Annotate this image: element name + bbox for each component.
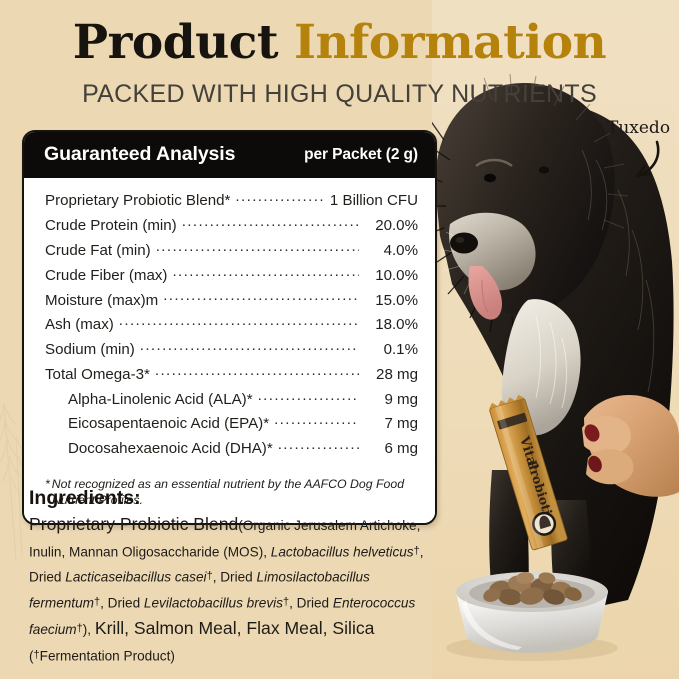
page-title: Product Information [0, 18, 679, 69]
guaranteed-analysis-rows: Proprietary Probiotic Blend* 1 Billion C… [24, 178, 435, 466]
ingredients-body: Proprietary Probiotic Blend(Organic Jeru… [29, 512, 435, 669]
ingredient-line-5-main: Krill, Salmon Meal, Flax Meal, Silica [95, 618, 375, 638]
nutrient-value: 10.0% [364, 268, 418, 283]
ingredient-line-4-b: , Dried [289, 596, 333, 611]
ingredients-heading: Ingredients: [29, 487, 141, 510]
nutrient-value: 1 Billion CFU [330, 193, 418, 208]
nutrient-value: 15.0% [364, 293, 418, 308]
nutrient-value: 9 mg [364, 392, 418, 407]
ingredient-line-1-rest: (Organic Jerusalem Artichoke, [238, 518, 420, 533]
leader-dots [156, 240, 359, 255]
leader-dots [119, 314, 359, 329]
leader-dots [140, 339, 359, 354]
table-row: Docosahexaenoic Acid (DHA)* 6 mg [45, 435, 418, 460]
nutrient-label: Moisture (max)m [45, 293, 158, 308]
nutrient-value: 4.0% [364, 243, 418, 258]
ingredient-line-4-a: , Dried [100, 596, 144, 611]
nutrient-value: 20.0% [364, 218, 418, 233]
leader-dots [155, 364, 359, 379]
nutrient-value: 0.1% [364, 342, 418, 357]
nutrient-label: Crude Fiber (max) [45, 268, 167, 283]
ingredient-line-2-a: Inulin, Mannan Oligosaccharide (MOS), [29, 544, 271, 559]
ingredient-line-2-end: , [420, 544, 424, 559]
ingredient-blend-name: Proprietary Probiotic Blend [29, 514, 238, 534]
guaranteed-analysis-panel: Guaranteed Analysis per Packet (2 g) Pro… [22, 130, 437, 525]
nutrient-label: Total Omega-3* [45, 367, 150, 382]
table-row: Crude Fiber (max) 10.0% [45, 261, 418, 286]
table-row: Total Omega-3* 28 mg [45, 360, 418, 385]
nutrient-label: Ash (max) [45, 317, 114, 332]
nutrient-label: Crude Fat (min) [45, 243, 151, 258]
table-row: Proprietary Probiotic Blend* 1 Billion C… [45, 187, 418, 212]
nutrient-value: 28 mg [364, 367, 418, 382]
table-row: Crude Fat (min) 4.0% [45, 237, 418, 262]
table-row: Ash (max) 18.0% [45, 311, 418, 336]
leader-dots [258, 389, 359, 404]
leader-dots [172, 265, 359, 280]
species-limosilactobacillus: Limosilactobacillus [257, 570, 370, 585]
title-part-information: Information [294, 15, 606, 70]
ingredient-line-3-b: , Dried [213, 570, 257, 585]
curved-arrow-icon [605, 136, 669, 184]
leader-dots [182, 215, 359, 230]
fermentation-product-note: Fermentation Product) [40, 648, 175, 663]
leader-dots [274, 413, 359, 428]
page-subtitle: PACKED WITH HIGH QUALITY NUTRIENTS [0, 80, 679, 109]
species-lactobacillus-helveticus: Lactobacillus helveticus [271, 544, 414, 559]
guaranteed-analysis-title: Guaranteed Analysis [44, 143, 235, 166]
serving-size-label: per Packet (2 g) [304, 146, 418, 164]
nutrient-label: Eicosapentaenoic Acid (EPA)* [68, 416, 269, 431]
nutrient-label: Crude Protein (min) [45, 218, 177, 233]
ingredients-line-4: fermentum†, Dried Levilactobacillus brev… [29, 590, 435, 616]
ingredients-line-2: Inulin, Mannan Oligosaccharide (MOS), La… [29, 539, 435, 565]
table-row: Alpha-Linolenic Acid (ALA)* 9 mg [45, 385, 418, 410]
guaranteed-analysis-header: Guaranteed Analysis per Packet (2 g) [24, 132, 435, 178]
table-row: Moisture (max)m 15.0% [45, 286, 418, 311]
nutrient-label: Docosahexaenoic Acid (DHA)* [68, 441, 273, 456]
leader-dots [235, 190, 325, 205]
table-row: Sodium (min) 0.1% [45, 336, 418, 361]
ingredients-line-5: faecium†), Krill, Salmon Meal, Flax Meal… [29, 616, 435, 643]
ingredients-line-3: Dried Lacticaseibacillus casei†, Dried L… [29, 564, 435, 590]
dog-name-label: Tuxedo [607, 118, 670, 138]
ingredient-line-5-rest: ), [83, 622, 95, 637]
nutrient-label: Proprietary Probiotic Blend* [45, 193, 230, 208]
leader-dots [163, 289, 359, 304]
ingredients-line-6: (†Fermentation Product) [29, 643, 435, 669]
nutrient-label: Alpha-Linolenic Acid (ALA)* [68, 392, 253, 407]
nutrient-value: 18.0% [364, 317, 418, 332]
table-row: Eicosapentaenoic Acid (EPA)* 7 mg [45, 410, 418, 435]
species-lacticaseibacillus-casei: Lacticaseibacillus casei [65, 570, 206, 585]
leader-dots [278, 438, 359, 453]
species-faecium: faecium [29, 622, 77, 637]
species-fermentum: fermentum [29, 596, 94, 611]
nutrient-label: Sodium (min) [45, 342, 135, 357]
product-information-page: Vital Probiotic [0, 0, 679, 679]
species-enterococcus: Enterococcus [333, 596, 415, 611]
nutrient-value: 6 mg [364, 441, 418, 456]
ingredient-line-3-a: Dried [29, 570, 65, 585]
ingredients-line-1: Proprietary Probiotic Blend(Organic Jeru… [29, 512, 435, 539]
species-levilactobacillus-brevis: Levilactobacillus brevis [144, 596, 283, 611]
title-part-product: Product [73, 15, 278, 70]
nutrient-value: 7 mg [364, 416, 418, 431]
table-row: Crude Protein (min) 20.0% [45, 212, 418, 237]
